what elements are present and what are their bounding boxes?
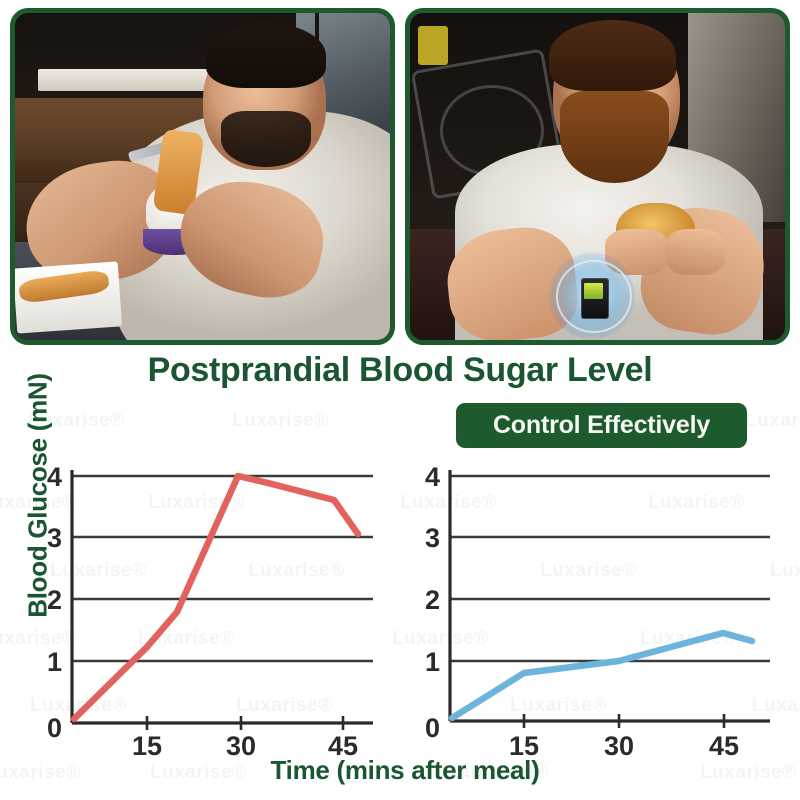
infographic-page: Postprandial Blood Sugar Level Control E… (0, 0, 800, 800)
y-tick-label-zero: 0 (425, 713, 440, 743)
y-tick-label: 1 (47, 647, 62, 677)
charts-region: 4 3 2 1 0 15 30 45 4 3 2 1 0 15 30 45 (0, 440, 800, 800)
x-axis-title: Time (mins after meal) (230, 755, 580, 786)
x-tick-label: 45 (709, 731, 739, 761)
status-badge-label: Control Effectively (493, 411, 710, 440)
x-tick-label: 30 (604, 731, 634, 761)
chart-without-control (72, 470, 373, 730)
charts-svg: 4 3 2 1 0 15 30 45 4 3 2 1 0 15 30 45 (0, 440, 800, 800)
y-tick-label-zero: 0 (47, 713, 62, 743)
photo-card-man-eating-churros (10, 8, 395, 345)
y-axis-title: Blood Glucose (mN) (23, 362, 54, 630)
y-tick-label: 1 (425, 647, 440, 677)
photo-image-left (15, 13, 390, 340)
watermark: Luxarise® (232, 410, 329, 432)
y-tick-label: 2 (425, 585, 440, 615)
status-badge: Control Effectively (456, 403, 747, 448)
x-tick-label: 15 (132, 731, 162, 761)
chart-with-control (450, 470, 770, 728)
watermark: Luxarise® (745, 410, 800, 432)
y-tick-label: 4 (425, 462, 440, 492)
photo-row (0, 0, 800, 345)
photo-image-right (410, 13, 785, 340)
photo-card-man-eating-burger (405, 8, 790, 345)
page-title: Postprandial Blood Sugar Level (0, 351, 800, 390)
y-tick-labels-right: 4 3 2 1 0 (425, 462, 440, 743)
series-line-without-control (74, 476, 358, 719)
y-tick-label: 3 (425, 523, 440, 553)
series-line-with-control (452, 633, 752, 718)
